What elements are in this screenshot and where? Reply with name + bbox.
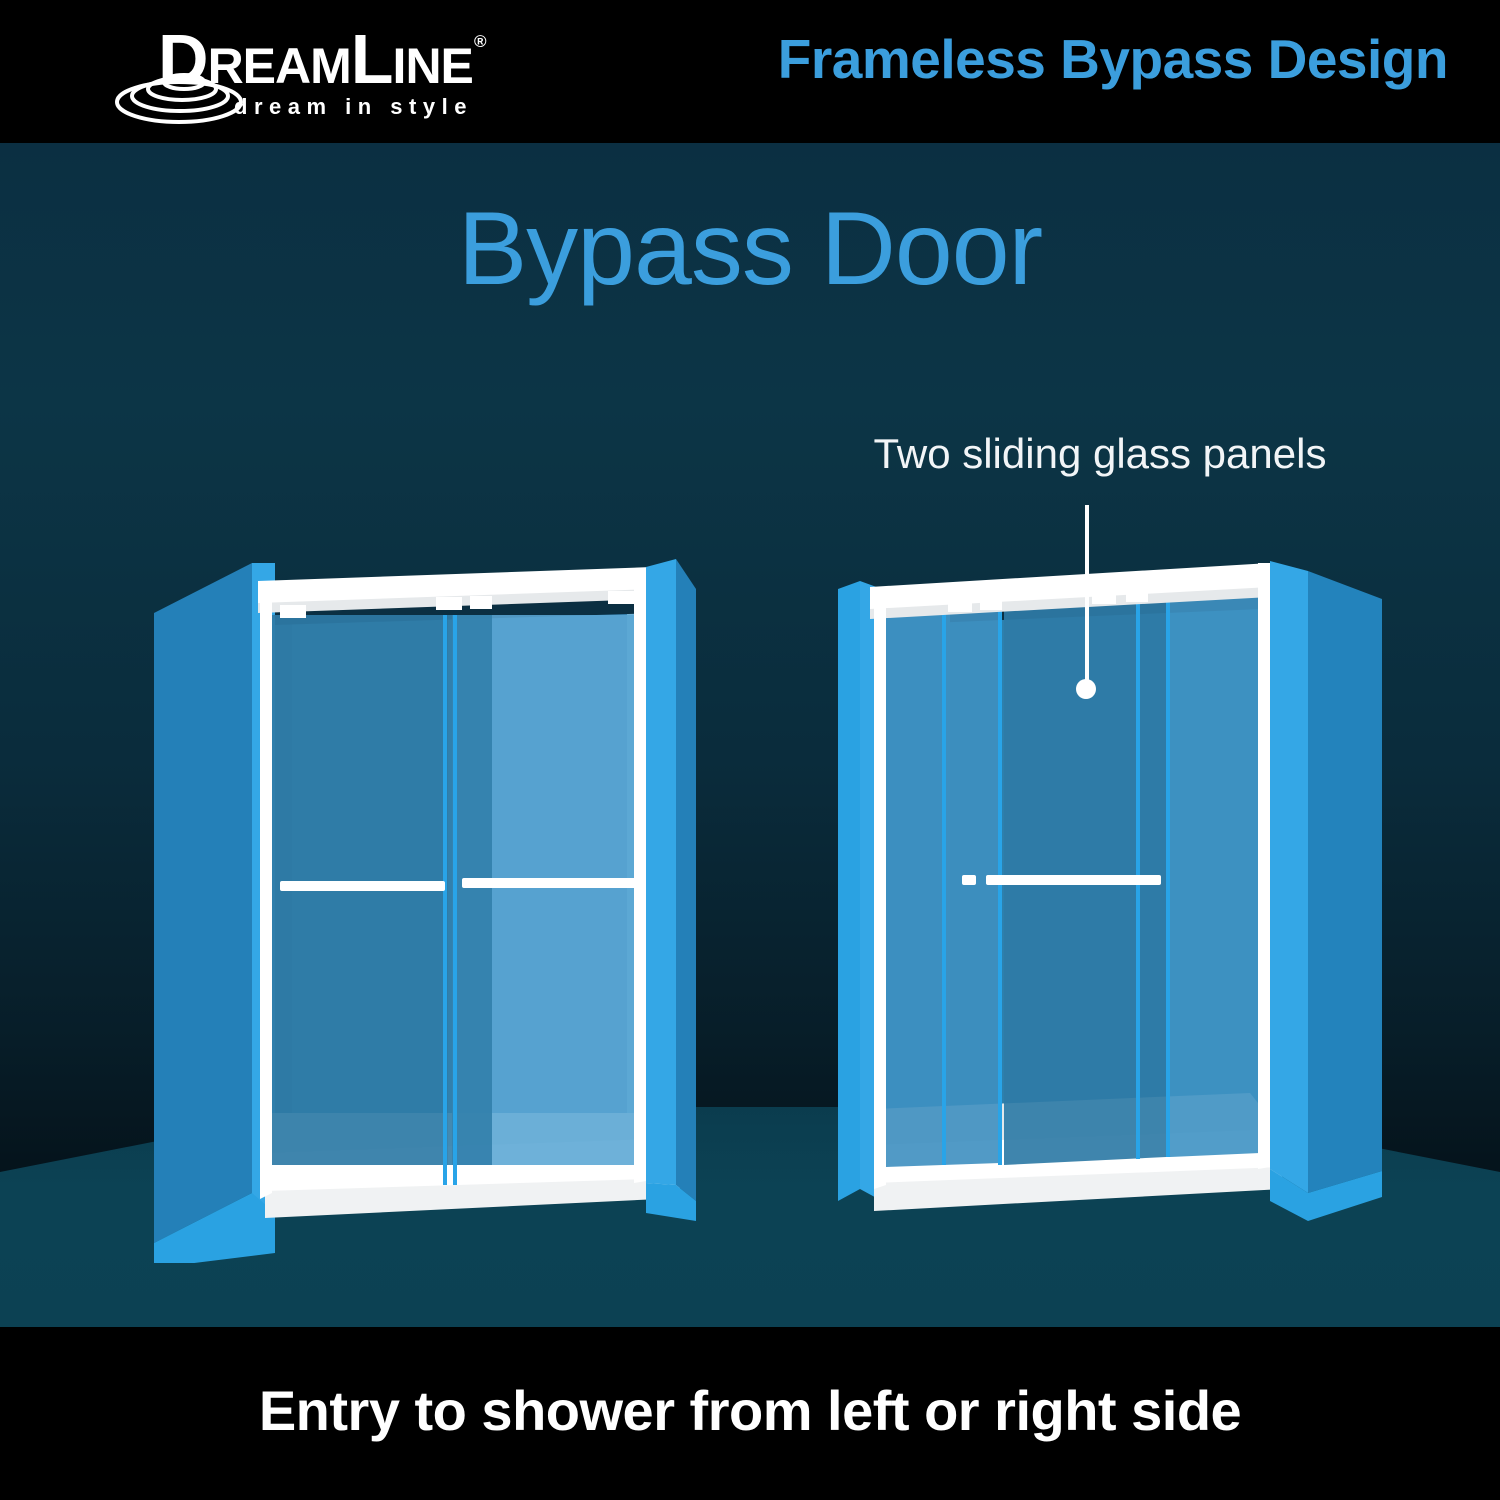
header-headline: Frameless Bypass Design	[778, 26, 1448, 92]
footer-caption: Entry to shower from left or right side	[0, 1378, 1500, 1443]
glass-edge-front	[453, 615, 457, 1185]
logo-ine: ine	[393, 38, 473, 94]
roller-bracket	[980, 597, 1002, 610]
roller-bracket	[280, 605, 306, 618]
logo-ream: ream	[208, 38, 351, 94]
logo-letter-d: D	[158, 20, 208, 98]
right-outer-wall-edge	[646, 559, 676, 1185]
glass-edge-1	[942, 609, 946, 1165]
handle-bar-front	[462, 878, 637, 888]
roller-bracket	[948, 599, 972, 612]
page-title: Bypass Door	[0, 195, 1500, 304]
handle-bar-rear	[280, 881, 445, 891]
right-outer-wall-face	[1308, 571, 1382, 1193]
glass-panel-right-section	[1170, 585, 1260, 1157]
roller-bracket	[608, 591, 634, 604]
annotation-leader-dot	[1076, 679, 1096, 699]
right-jamb	[634, 571, 646, 1183]
scene-background	[0, 143, 1500, 1327]
left-enclosure-illustration	[140, 553, 700, 1263]
brand-logo[interactable]: DreamLine ® dream in style	[62, 14, 482, 129]
product-infographic: Bypass Door Two sliding glass panels Dre…	[0, 0, 1500, 1500]
glass-edge-2	[998, 610, 1002, 1165]
left-outer-wall-face	[154, 563, 252, 1243]
left-jamb	[260, 583, 272, 1199]
roller-bracket	[470, 596, 492, 609]
annotation-leader-line	[1085, 505, 1089, 688]
annotation-label: Two sliding glass panels	[760, 430, 1440, 478]
roller-bracket	[1126, 589, 1148, 602]
roller-bracket	[436, 597, 462, 610]
right-outer-wall-face	[676, 559, 696, 1201]
right-enclosure-illustration	[830, 553, 1390, 1263]
left-outer-wall-edge	[838, 581, 860, 1201]
right-jamb	[1258, 563, 1270, 1169]
logo-letter-l: L	[351, 20, 393, 98]
left-jamb	[874, 589, 886, 1189]
handle-bar-rear	[962, 875, 976, 885]
registered-trademark-icon: ®	[474, 32, 487, 52]
brand-tagline: dream in style	[234, 96, 473, 118]
glass-edge-4	[1166, 596, 1170, 1157]
glass-edge-rear	[443, 615, 447, 1185]
right-outer-wall-edge	[1270, 561, 1308, 1193]
brand-wordmark: DreamLine	[158, 24, 473, 94]
handle-bar-front	[986, 875, 1161, 885]
bypass-shower-enclosure-left	[140, 553, 700, 1263]
header-bar: DreamLine ® dream in style Frameless Byp…	[0, 0, 1500, 143]
bypass-shower-enclosure-right	[830, 553, 1390, 1263]
roller-bracket	[1092, 591, 1116, 604]
